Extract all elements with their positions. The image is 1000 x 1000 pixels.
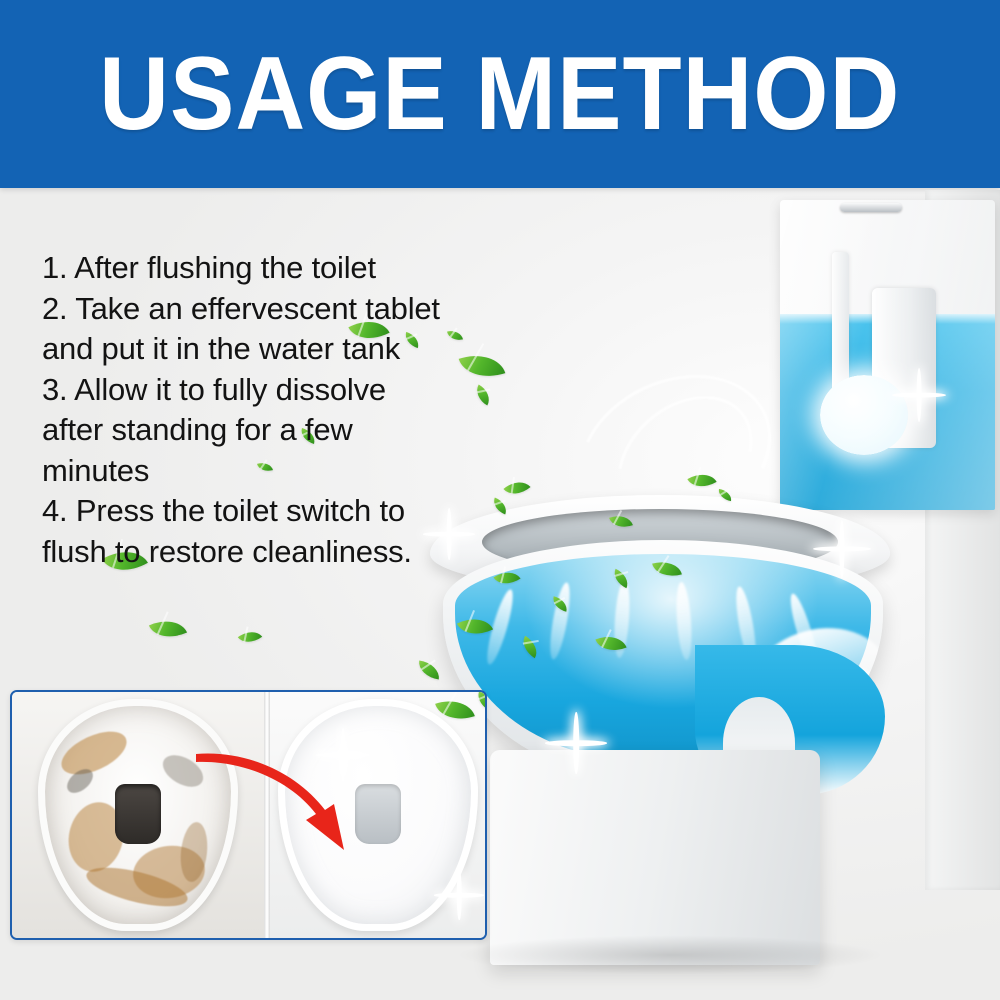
- bowl-drain: [115, 784, 161, 844]
- stain-mark: [55, 723, 133, 783]
- mint-leaf-icon: [149, 612, 187, 645]
- transition-arrow: [194, 750, 354, 860]
- bowl-drain: [355, 784, 401, 844]
- instruction-line: 1. After flushing the toilet: [42, 248, 472, 289]
- toilet-tank: [780, 200, 995, 510]
- instruction-line: minutes: [42, 451, 472, 492]
- mint-leaf-icon: [238, 625, 262, 648]
- toilet-pedestal: [490, 750, 820, 965]
- instruction-line: 3. Allow it to fully dissolve: [42, 370, 472, 411]
- instruction-line: 2. Take an effervescent tablet: [42, 289, 472, 330]
- page-title: USAGE METHOD: [99, 42, 900, 146]
- instruction-list: 1. After flushing the toilet 2. Take an …: [42, 248, 472, 572]
- flush-button[interactable]: [840, 203, 902, 212]
- floor-shadow: [455, 935, 885, 975]
- product-infographic: USAGE METHOD: [0, 0, 1000, 1000]
- instruction-line: after standing for a few: [42, 410, 472, 451]
- before-after-panel: [10, 690, 487, 940]
- instruction-line: flush to restore cleanliness.: [42, 532, 472, 573]
- mint-leaf-icon: [474, 692, 485, 712]
- tank-glass-overlay: [780, 200, 995, 510]
- instruction-line: and put it in the water tank: [42, 329, 472, 370]
- instruction-line: 4. Press the toilet switch to: [42, 491, 472, 532]
- header-banner: USAGE METHOD: [0, 0, 1000, 188]
- red-arrow-icon: [194, 750, 354, 860]
